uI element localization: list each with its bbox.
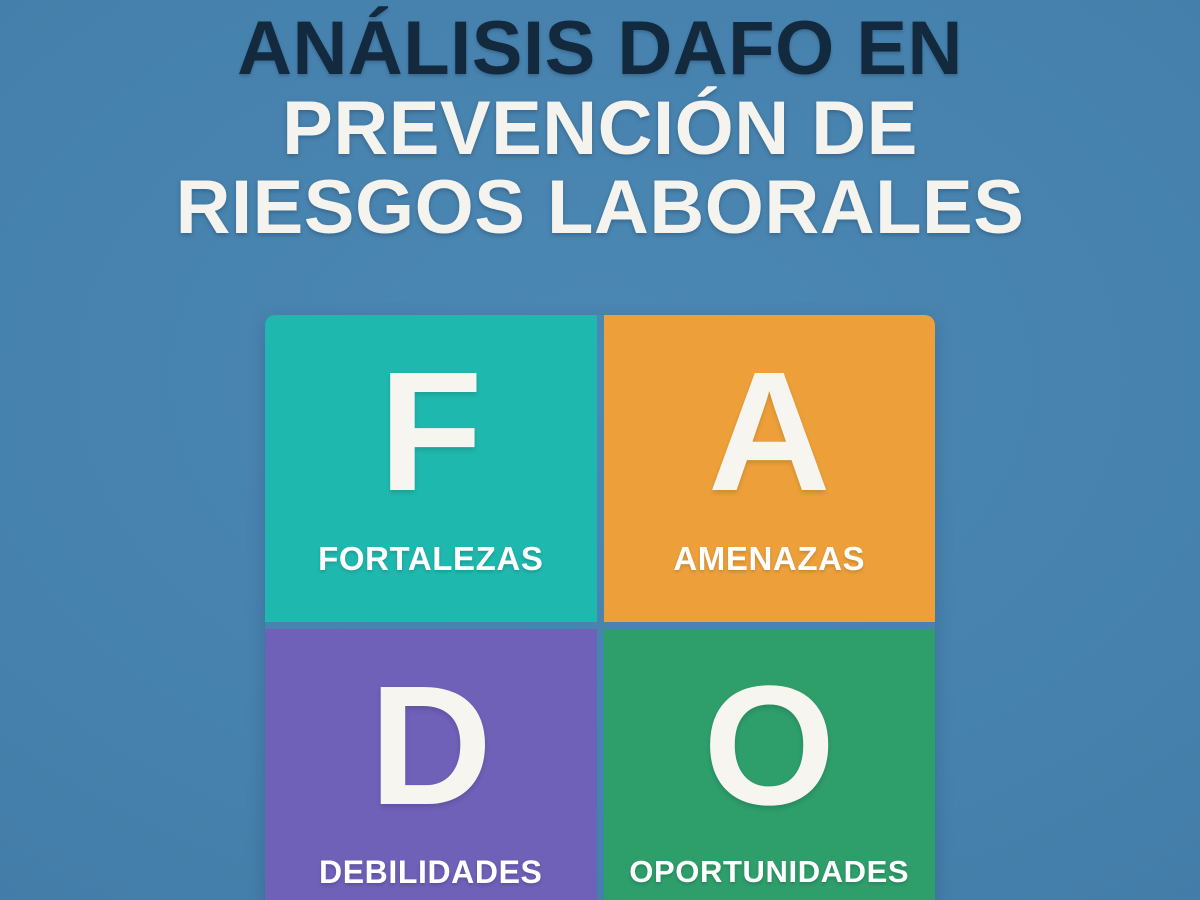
title-line-2: PREVENCIÓN DE	[0, 92, 1200, 166]
quadrant-letter-d: D	[369, 677, 492, 816]
quadrant-label-amenazas: AMENAZAS	[673, 540, 865, 578]
quadrant-oportunidades[interactable]: O OPORTUNIDADES	[604, 629, 936, 900]
quadrant-debilidades[interactable]: D DEBILIDADES	[265, 629, 597, 900]
dafo-infographic: ANÁLISIS DAFO EN PREVENCIÓN DE RIESGOS L…	[0, 0, 1200, 900]
quadrant-letter-f: F	[379, 363, 483, 502]
quadrant-amenazas[interactable]: A AMENAZAS	[604, 315, 936, 622]
quadrant-label-fortalezas: FORTALEZAS	[318, 540, 543, 578]
title-line-3: RIESGOS LABORALES	[0, 171, 1200, 245]
title-block: ANÁLISIS DAFO EN PREVENCIÓN DE RIESGOS L…	[0, 0, 1200, 245]
title-line-1: ANÁLISIS DAFO EN	[0, 12, 1200, 86]
quadrant-letter-a: A	[708, 363, 831, 502]
quadrant-label-oportunidades: OPORTUNIDADES	[629, 854, 909, 890]
dafo-matrix: F FORTALEZAS A AMENAZAS D DEBILIDADES O …	[265, 315, 935, 900]
quadrant-letter-o: O	[703, 677, 835, 816]
quadrant-label-debilidades: DEBILIDADES	[319, 854, 543, 891]
quadrant-fortalezas[interactable]: F FORTALEZAS	[265, 315, 597, 622]
